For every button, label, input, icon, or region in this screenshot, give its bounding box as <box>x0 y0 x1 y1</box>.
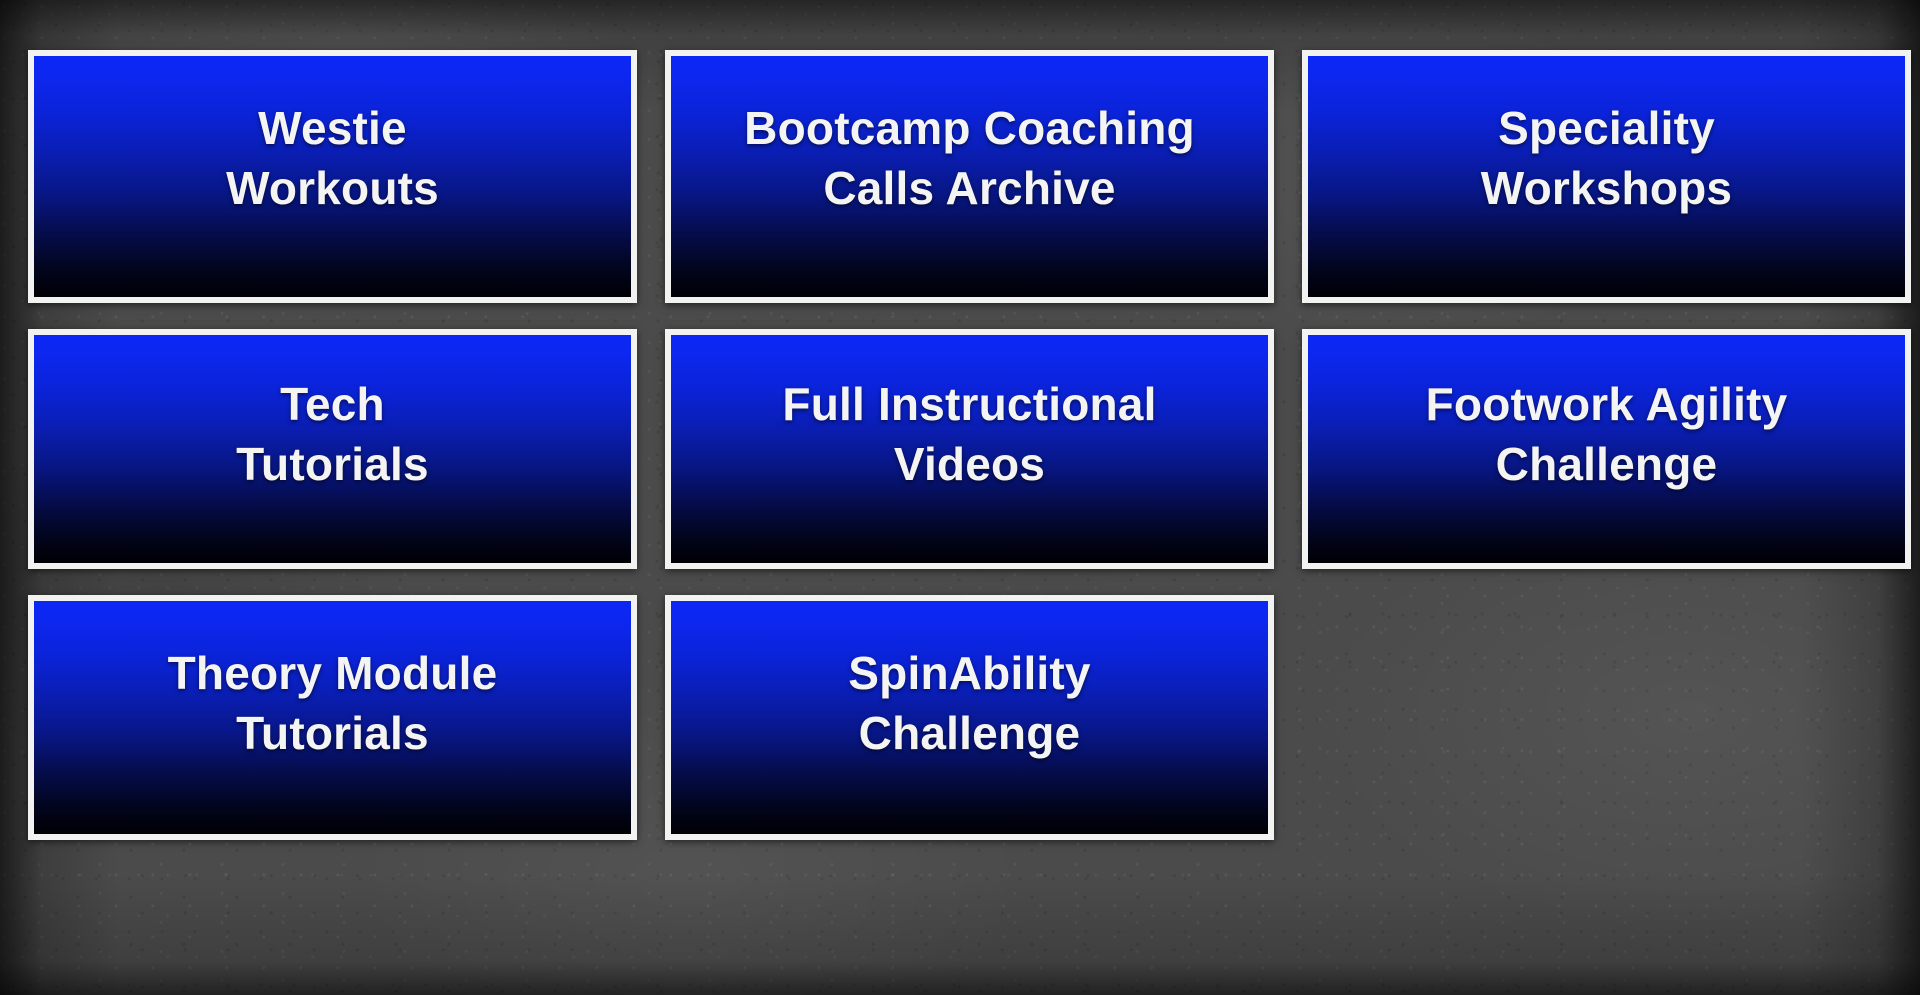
module-grid-screen: Westie Workouts Bootcamp Coaching Calls … <box>0 0 1920 995</box>
card-face: Tech Tutorials <box>34 335 631 563</box>
module-card-spinability-challenge[interactable]: SpinAbility Challenge <box>665 595 1274 840</box>
card-face: Bootcamp Coaching Calls Archive <box>671 56 1268 297</box>
module-card-speciality-workshops[interactable]: Speciality Workshops <box>1302 50 1911 303</box>
card-face: Footwork Agility Challenge <box>1308 335 1905 563</box>
module-card-row-1: Westie Workouts Bootcamp Coaching Calls … <box>28 50 1890 303</box>
module-card-westie-workouts[interactable]: Westie Workouts <box>28 50 637 303</box>
card-face: Theory Module Tutorials <box>34 601 631 834</box>
module-card-bootcamp-coaching-calls-archive[interactable]: Bootcamp Coaching Calls Archive <box>665 50 1274 303</box>
module-card-label: Bootcamp Coaching Calls Archive <box>730 99 1209 219</box>
module-card-theory-module-tutorials[interactable]: Theory Module Tutorials <box>28 595 637 840</box>
module-card-full-instructional-videos[interactable]: Full Instructional Videos <box>665 329 1274 569</box>
card-face: Westie Workouts <box>34 56 631 297</box>
module-card-label: Full Instructional Videos <box>768 375 1170 495</box>
module-card-label: Westie Workouts <box>212 99 453 219</box>
module-card-label: SpinAbility Challenge <box>834 644 1104 764</box>
card-face: Speciality Workshops <box>1308 56 1905 297</box>
module-card-footwork-agility-challenge[interactable]: Footwork Agility Challenge <box>1302 329 1911 569</box>
card-face: Full Instructional Videos <box>671 335 1268 563</box>
module-card-tech-tutorials[interactable]: Tech Tutorials <box>28 329 637 569</box>
module-card-label: Speciality Workshops <box>1467 99 1746 219</box>
module-card-grid: Westie Workouts Bootcamp Coaching Calls … <box>28 50 1890 840</box>
module-card-row-2: Tech Tutorials Full Instructional Videos… <box>28 329 1890 569</box>
module-card-label: Footwork Agility Challenge <box>1412 375 1802 495</box>
module-card-row-3: Theory Module Tutorials SpinAbility Chal… <box>28 595 1890 840</box>
module-card-label: Theory Module Tutorials <box>154 644 512 764</box>
module-card-label: Tech Tutorials <box>222 375 443 495</box>
card-face: SpinAbility Challenge <box>671 601 1268 834</box>
